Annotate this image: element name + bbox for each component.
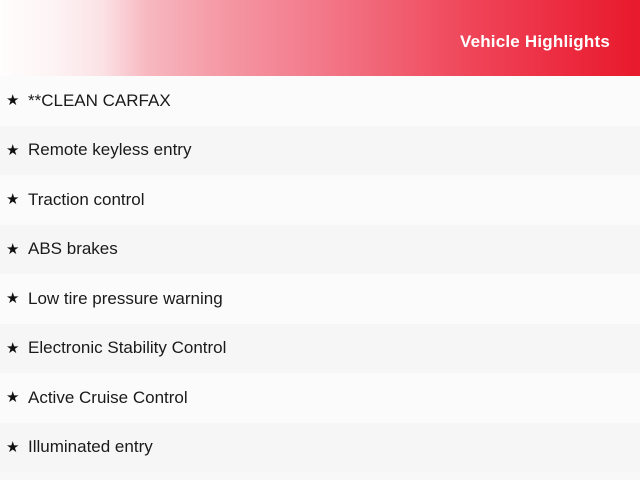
list-item: ★ **CLEAN CARFAX [0,76,640,126]
star-icon: ★ [6,143,20,158]
highlight-label: Illuminated entry [28,436,640,458]
list-item: ★ Active Cruise Control [0,373,640,423]
list-item: ★ Traction control [0,175,640,225]
list-item: ★ Remote keyless entry [0,126,640,176]
vehicle-highlights-page: Vehicle Highlights ★ **CLEAN CARFAX ★ Re… [0,0,640,480]
highlight-label: **CLEAN CARFAX [28,90,640,112]
star-icon: ★ [6,192,20,207]
star-icon: ★ [6,440,20,455]
list-item: ★ Electronic Stability Control [0,324,640,374]
star-icon: ★ [6,93,20,108]
list-item: ★ Low tire pressure warning [0,274,640,324]
highlight-label: Low tire pressure warning [28,288,640,310]
highlight-label: Electronic Stability Control [28,337,640,359]
star-icon: ★ [6,291,20,306]
header-banner: Vehicle Highlights [0,0,640,76]
list-item: ★ Illuminated entry [0,423,640,473]
vehicle-highlights-list: ★ **CLEAN CARFAX ★ Remote keyless entry … [0,76,640,472]
highlight-label: Remote keyless entry [28,139,640,161]
highlight-label: Traction control [28,189,640,211]
star-icon: ★ [6,341,20,356]
highlight-label: Active Cruise Control [28,387,640,409]
list-item: ★ ABS brakes [0,225,640,275]
star-icon: ★ [6,242,20,257]
page-title: Vehicle Highlights [460,31,610,53]
highlight-label: ABS brakes [28,238,640,260]
star-icon: ★ [6,390,20,405]
